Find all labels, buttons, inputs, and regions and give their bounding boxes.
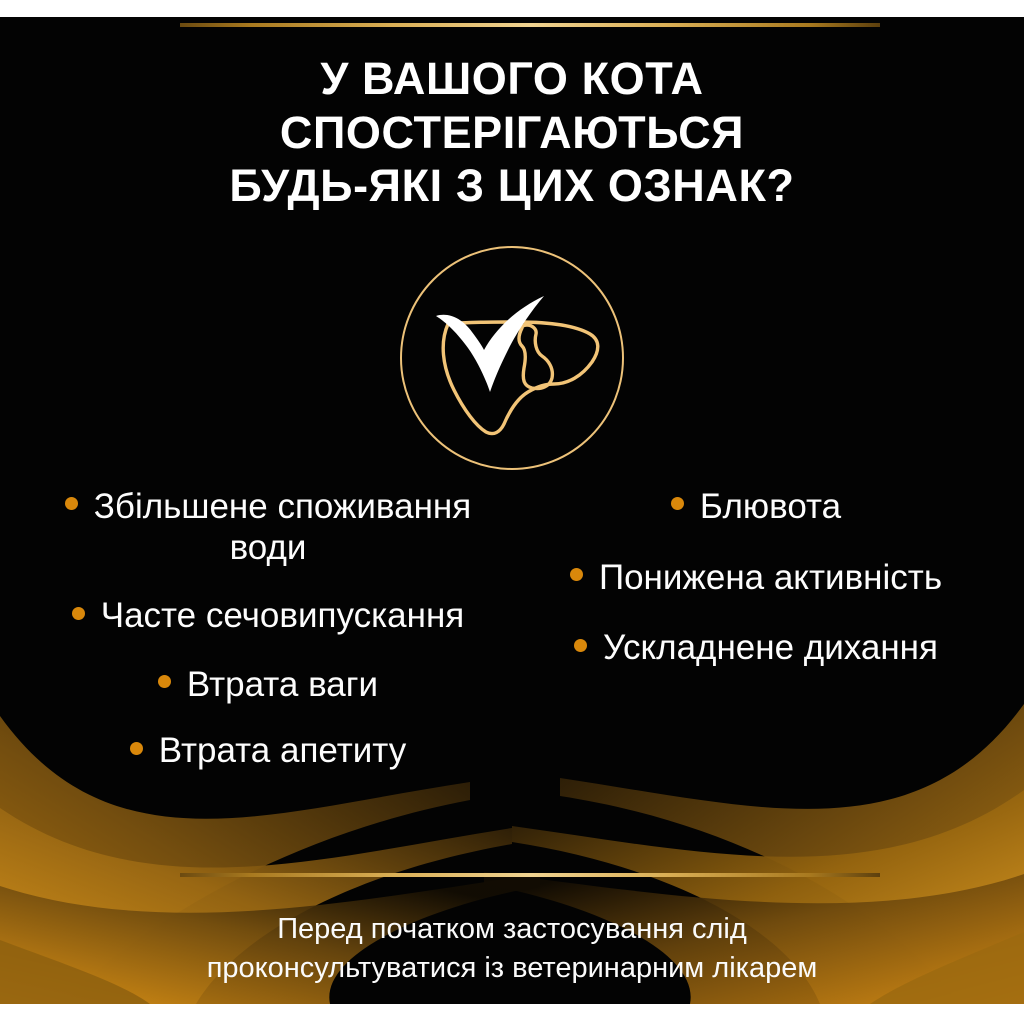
footer-disclaimer: Перед початком застосування слід проконс… [0,910,1024,987]
symptom-label: Збільшене споживання води [94,487,471,567]
divider-bottom [180,873,880,877]
footer-line-2: проконсультуватися із ветеринарним лікар… [0,949,1024,988]
list-item: Блювота [536,487,976,528]
symptom-label: Ускладнене дихання [603,628,938,667]
list-item: Збільшене споживання води [48,487,488,568]
list-item: Ускладнене дихання [536,628,976,669]
list-item: Втрата апетиту [48,731,488,772]
symptom-label: Блювота [700,487,841,526]
divider-top [180,23,880,27]
bullet-dot-icon [65,497,78,510]
headline-line-1: У ВАШОГО КОТА [0,52,1024,106]
list-item: Часте сечовипускання [48,596,488,637]
symptom-label: Втрата ваги [187,665,378,704]
list-item: Понижена активність [536,558,976,599]
symptom-label: Понижена активність [599,558,942,597]
poster-root: У ВАШОГО КОТА СПОСТЕРІГАЮТЬСЯ БУДЬ-ЯКІ З… [0,0,1024,1024]
symptom-column-left: Збільшене споживання води Часте сечовипу… [0,487,512,798]
headline-line-2: СПОСТЕРІГАЮТЬСЯ [0,106,1024,160]
bullet-dot-icon [130,742,143,755]
symptom-label: Втрата апетиту [159,731,406,770]
bullet-dot-icon [158,675,171,688]
page-title: У ВАШОГО КОТА СПОСТЕРІГАЮТЬСЯ БУДЬ-ЯКІ З… [0,52,1024,213]
headline-line-3: БУДЬ-ЯКІ З ЦИХ ОЗНАК? [0,159,1024,213]
symptom-columns: Збільшене споживання води Часте сечовипу… [0,487,1024,798]
list-item: Втрата ваги [48,665,488,706]
bullet-dot-icon [671,497,684,510]
bullet-dot-icon [570,568,583,581]
bullet-dot-icon [574,639,587,652]
liver-emblem [400,246,624,470]
poster-stage: У ВАШОГО КОТА СПОСТЕРІГАЮТЬСЯ БУДЬ-ЯКІ З… [0,17,1024,1004]
bullet-dot-icon [72,607,85,620]
symptom-label: Часте сечовипускання [101,596,464,635]
liver-check-icon [400,246,624,470]
symptom-column-right: Блювота Понижена активність Ускладнене д… [512,487,1024,798]
footer-line-1: Перед початком застосування слід [0,910,1024,949]
